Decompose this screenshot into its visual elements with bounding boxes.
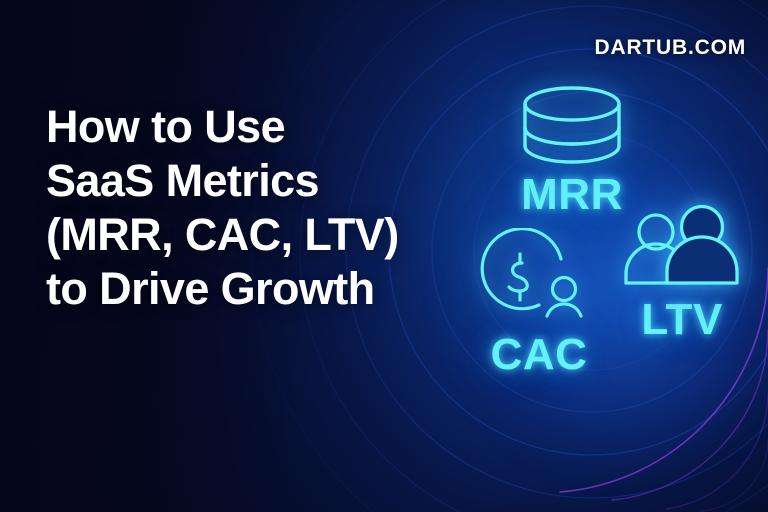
dollar-circle-person-icon: [464, 228, 614, 333]
title-line-3: (MRR, CAC, LTV): [46, 208, 426, 262]
site-watermark: DARTUB.COM: [595, 36, 746, 60]
database-stack-icon: [487, 84, 657, 169]
metric-item-cac: CAC: [464, 228, 614, 379]
title-line-1: How to Use: [46, 100, 426, 154]
metric-label-cac: CAC: [464, 331, 614, 379]
two-people-icon: [612, 205, 752, 296]
metric-item-mrr: MRR: [487, 84, 657, 219]
page-title: How to Use SaaS Metrics (MRR, CAC, LTV) …: [46, 100, 426, 316]
title-line-2: SaaS Metrics: [46, 154, 426, 208]
thumbnail-canvas: DARTUB.COM How to Use SaaS Metrics (MRR,…: [0, 0, 768, 512]
title-line-4: to Drive Growth: [46, 262, 426, 316]
metric-label-ltv: LTV: [612, 296, 752, 344]
metric-item-ltv: LTV: [612, 205, 752, 344]
